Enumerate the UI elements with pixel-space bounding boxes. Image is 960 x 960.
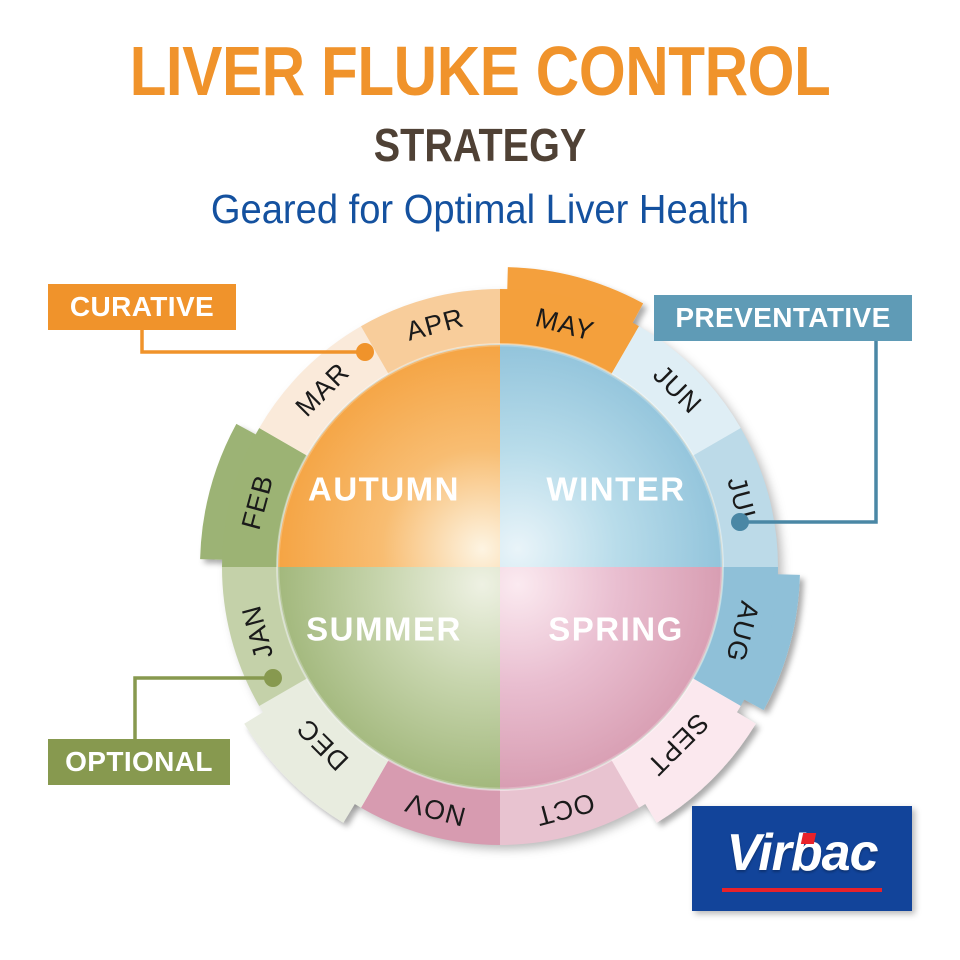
season-label-winter: WINTER: [546, 471, 685, 508]
season-label-autumn: AUTUMN: [308, 471, 460, 508]
virbac-underline-rule: [722, 888, 882, 892]
callout-badge-preventative[interactable]: PREVENTATIVE: [654, 295, 912, 341]
season-label-summer: SUMMER: [306, 611, 462, 648]
callout-badge-optional[interactable]: OPTIONAL: [48, 739, 230, 785]
virbac-i-dot-icon: [801, 833, 816, 844]
infographic-canvas: LIVER FLUKE CONTROL STRATEGY Geared for …: [0, 0, 960, 960]
callout-badge-curative[interactable]: CURATIVE: [48, 284, 236, 330]
callout-dot-optional: [264, 669, 282, 687]
callout-dot-curative: [356, 343, 374, 361]
season-disc: [277, 344, 723, 790]
season-label-spring: SPRING: [548, 611, 684, 648]
virbac-wordmark: Virbac: [692, 824, 912, 882]
callout-dot-preventative: [731, 513, 749, 531]
virbac-logo[interactable]: Virbac: [692, 806, 912, 911]
